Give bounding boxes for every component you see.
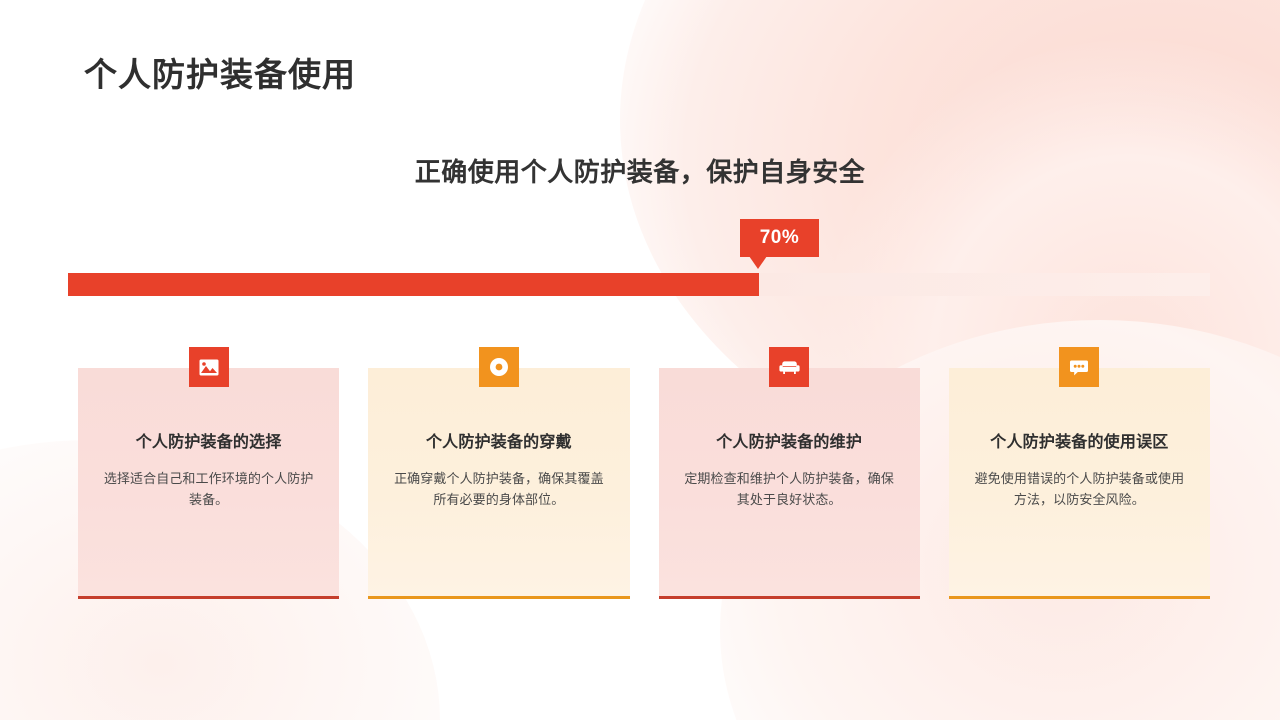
card-title: 个人防护装备的选择 <box>136 432 282 454</box>
progress-badge-pointer-icon <box>749 256 767 269</box>
page-subtitle: 正确使用个人防护装备，保护自身安全 <box>0 152 1280 189</box>
card-description: 正确穿戴个人防护装备，确保其覆盖所有必要的身体部位。 <box>390 468 607 511</box>
slide-canvas: 个人防护装备使用 正确使用个人防护装备，保护自身安全 70% 个人防护装备的选择… <box>0 0 1280 720</box>
image-icon <box>189 347 229 387</box>
card-item[interactable]: 个人防护装备的穿戴 正确穿戴个人防护装备，确保其覆盖所有必要的身体部位。 <box>368 368 629 599</box>
card-title: 个人防护装备的维护 <box>716 432 862 454</box>
target-circle-icon <box>479 347 519 387</box>
progress-bar <box>68 273 1210 296</box>
page-title: 个人防护装备使用 <box>84 55 356 95</box>
card-item[interactable]: 个人防护装备的选择 选择适合自己和工作环境的个人防护装备。 <box>78 368 339 599</box>
progress-fill <box>68 273 759 296</box>
card-item[interactable]: 个人防护装备的使用误区 避免使用错误的个人防护装备或使用方法，以防安全风险。 <box>949 368 1210 599</box>
card-list: 个人防护装备的选择 选择适合自己和工作环境的个人防护装备。 个人防护装备的穿戴 … <box>78 368 1210 599</box>
card-title: 个人防护装备的使用误区 <box>990 432 1168 454</box>
chat-bubble-icon <box>1059 347 1099 387</box>
progress-percent-badge: 70% <box>740 219 819 257</box>
sofa-icon <box>769 347 809 387</box>
card-description: 选择适合自己和工作环境的个人防护装备。 <box>100 468 317 511</box>
card-item[interactable]: 个人防护装备的维护 定期检查和维护个人防护装备，确保其处于良好状态。 <box>659 368 920 599</box>
card-description: 定期检查和维护个人防护装备，确保其处于良好状态。 <box>681 468 898 511</box>
card-description: 避免使用错误的个人防护装备或使用方法，以防安全风险。 <box>971 468 1188 511</box>
card-title: 个人防护装备的穿戴 <box>426 432 572 454</box>
